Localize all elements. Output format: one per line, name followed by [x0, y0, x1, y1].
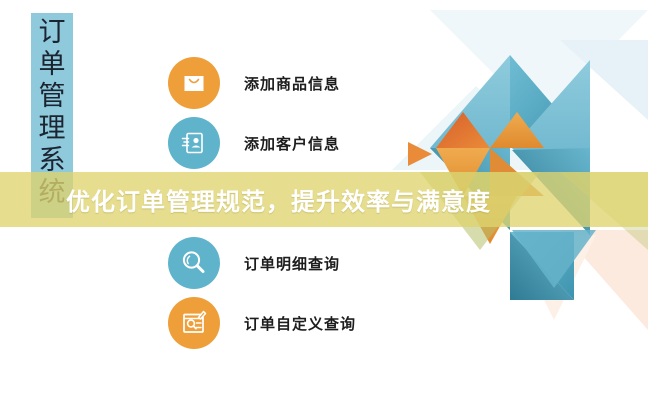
pale-wedge-left — [392, 86, 560, 170]
pale-wedge-lower-mid — [512, 235, 596, 320]
teal-triangle-lower-c — [512, 230, 596, 288]
vertical-title-char: 订 — [39, 17, 66, 49]
orange-triangle-small-left — [408, 142, 432, 166]
headline-banner-text: 优化订单管理规范，提升效率与满意度 — [66, 182, 491, 217]
vertical-title-char: 管 — [39, 81, 66, 113]
menu-item-order-custom-query[interactable]: 订单自定义查询 — [168, 294, 356, 352]
vertical-title-char: 理 — [39, 113, 66, 145]
poster-canvas: 订 单 管 理 系 统 添加商品信息 — [0, 0, 648, 400]
orange-triangle-b — [490, 112, 544, 148]
vertical-title-char: 单 — [39, 49, 66, 81]
menu-item-add-product[interactable]: 添加商品信息 — [168, 54, 340, 112]
menu-item-label: 添加客户信息 — [244, 133, 340, 154]
pale-wedge-top — [430, 10, 648, 120]
teal-triangle-upper-notch — [510, 55, 590, 148]
teal-triangle-lower-a — [510, 232, 574, 300]
document-search-pen-icon — [168, 297, 220, 349]
menu-item-label: 订单自定义查询 — [244, 313, 356, 334]
orange-triangle-a — [436, 112, 490, 148]
teal-triangle-lower-b — [510, 232, 574, 300]
menu-item-label: 添加商品信息 — [244, 73, 340, 94]
headline-banner: 优化订单管理规范，提升效率与满意度 — [0, 172, 648, 227]
menu-item-add-customer[interactable]: 添加客户信息 — [168, 114, 340, 172]
pale-wedge-lower-right — [560, 230, 648, 330]
shopping-bag-icon — [168, 57, 220, 109]
menu-item-order-detail-query[interactable]: 订单明细查询 — [168, 234, 340, 292]
contact-card-icon — [168, 117, 220, 169]
menu-item-label: 订单明细查询 — [244, 253, 340, 274]
pale-wedge-right — [560, 40, 648, 120]
magnifier-icon — [168, 237, 220, 289]
